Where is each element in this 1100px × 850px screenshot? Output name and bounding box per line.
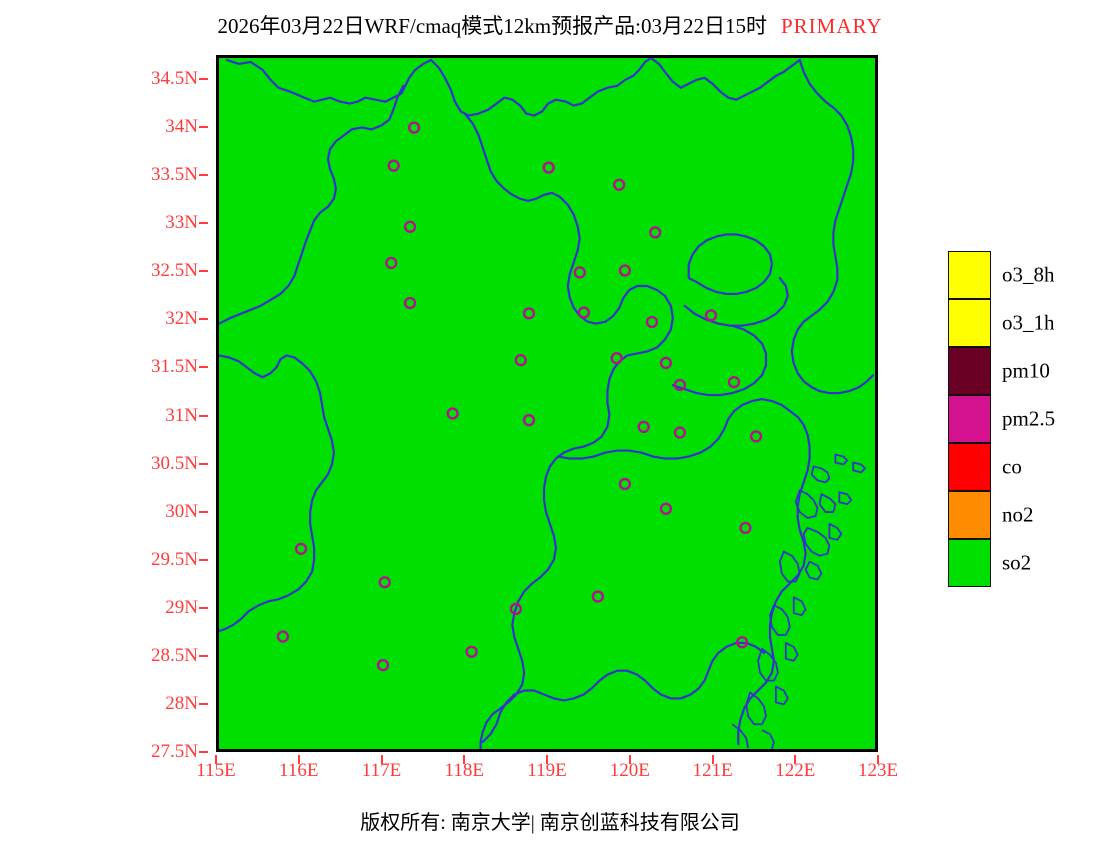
legend-item-so2[interactable]: so2: [948, 539, 1088, 587]
map-page: 2026年03月22日WRF/cmaq模式12km预报产品:03月22日15时P…: [0, 0, 1100, 850]
legend-label: co: [1002, 455, 1022, 480]
legend-label: no2: [1002, 503, 1034, 528]
legend-label: o3_1h: [1002, 311, 1055, 336]
legend-color-swatch: [948, 251, 991, 299]
longitude-tick-mark: [629, 755, 631, 764]
longitude-tick-mark: [712, 755, 714, 764]
longitude-tick-mark: [215, 755, 217, 764]
longitude-tick-mark: [463, 755, 465, 764]
longitude-tick-mark: [877, 755, 879, 764]
longitude-axis: 115E116E117E118E119E120E121E122E123E: [0, 0, 1100, 850]
legend-item-no2[interactable]: no2: [948, 491, 1088, 539]
legend-item-o3-1h[interactable]: o3_1h: [948, 299, 1088, 347]
longitude-tick-mark: [794, 755, 796, 764]
copyright-footer: 版权所有: 南京大学| 南京创蓝科技有限公司: [0, 806, 1100, 835]
longitude-tick-mark: [298, 755, 300, 764]
legend-color-swatch: [948, 395, 991, 443]
legend-item-pm2-5[interactable]: pm2.5: [948, 395, 1088, 443]
legend-color-swatch: [948, 443, 991, 491]
legend-label: o3_8h: [1002, 263, 1055, 288]
legend-color-swatch: [948, 347, 991, 395]
legend-color-swatch: [948, 299, 991, 347]
longitude-tick-mark: [381, 755, 383, 764]
legend-item-co[interactable]: co: [948, 443, 1088, 491]
legend-item-o3-8h[interactable]: o3_8h: [948, 251, 1088, 299]
pollutant-legend: o3_8ho3_1hpm10pm2.5cono2so2: [948, 251, 1088, 587]
longitude-tick-mark: [546, 755, 548, 764]
legend-label: pm10: [1002, 359, 1050, 384]
legend-label: pm2.5: [1002, 407, 1055, 432]
legend-color-swatch: [948, 491, 991, 539]
legend-label: so2: [1002, 551, 1031, 576]
legend-color-swatch: [948, 539, 991, 587]
legend-item-pm10[interactable]: pm10: [948, 347, 1088, 395]
